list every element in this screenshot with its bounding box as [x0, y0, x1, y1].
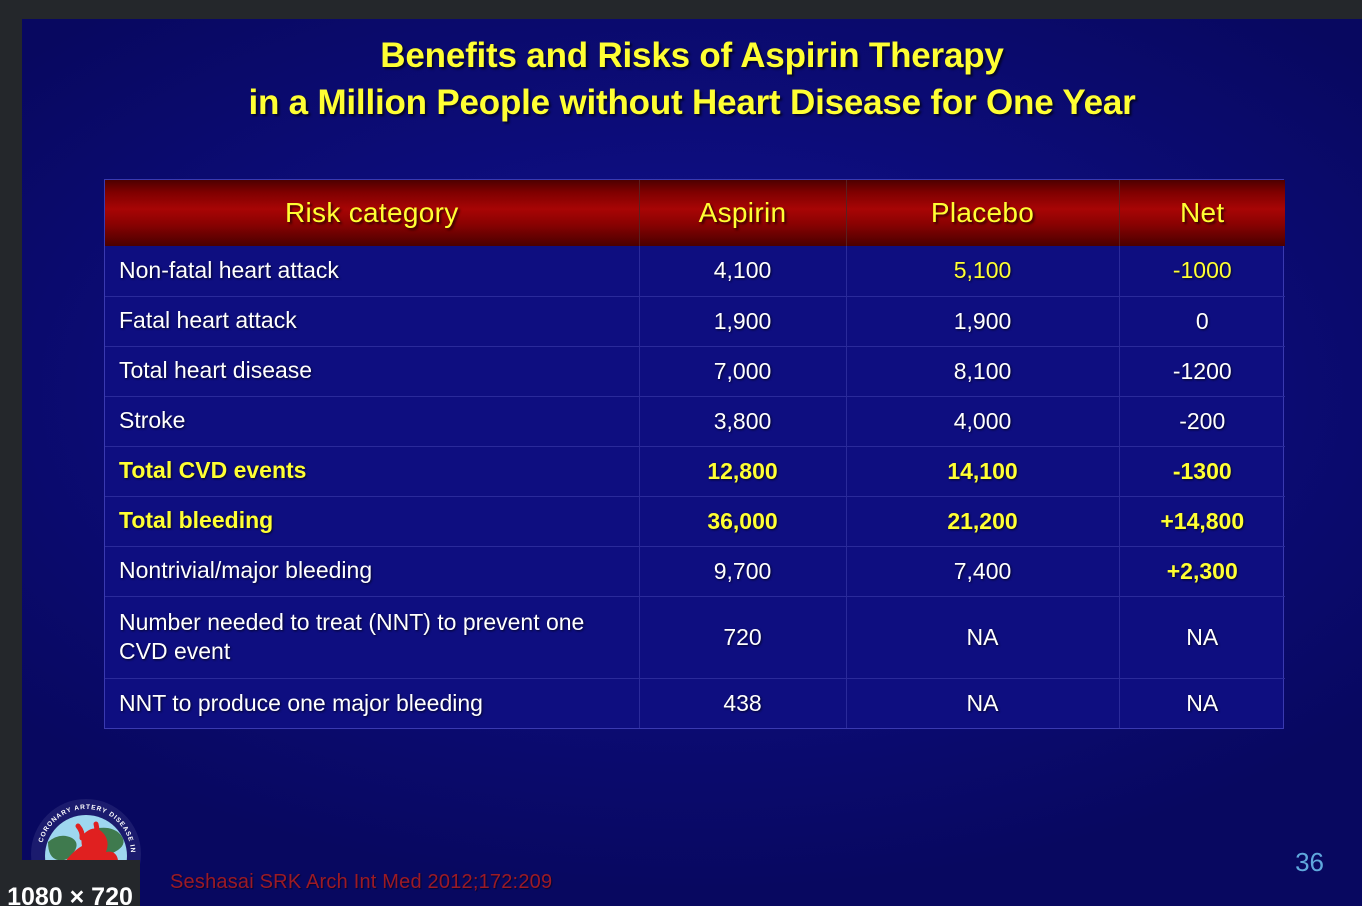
window-chrome-top	[0, 0, 1362, 19]
column-header-placebo: Placebo	[846, 180, 1119, 246]
window-chrome-left	[0, 0, 22, 906]
table-body: Non-fatal heart attack4,1005,100-1000Fat…	[105, 246, 1285, 728]
column-header-risk-category: Risk category	[105, 180, 639, 246]
row-value: 1,900	[639, 296, 846, 346]
row-value: 438	[639, 678, 846, 728]
row-value: 12,800	[639, 446, 846, 496]
row-value: -1300	[1119, 446, 1285, 496]
row-label: Stroke	[105, 396, 639, 446]
row-value: +2,300	[1119, 546, 1285, 596]
table-row: Total CVD events12,80014,100-1300	[105, 446, 1285, 496]
table-header: Risk category Aspirin Placebo Net	[105, 180, 1285, 246]
data-table: Risk category Aspirin Placebo Net Non-fa…	[105, 180, 1285, 728]
row-value: 1,900	[846, 296, 1119, 346]
table-row: Number needed to treat (NNT) to prevent …	[105, 596, 1285, 678]
row-value: 720	[639, 596, 846, 678]
row-label: Non-fatal heart attack	[105, 246, 639, 296]
row-value: 21,200	[846, 496, 1119, 546]
row-value: NA	[1119, 596, 1285, 678]
row-label: NNT to produce one major bleeding	[105, 678, 639, 728]
row-value: NA	[846, 596, 1119, 678]
row-label: Total CVD events	[105, 446, 639, 496]
row-value: -200	[1119, 396, 1285, 446]
row-label: Fatal heart attack	[105, 296, 639, 346]
row-value: +14,800	[1119, 496, 1285, 546]
row-value: 5,100	[846, 246, 1119, 296]
title-line-2: in a Million People without Heart Diseas…	[22, 80, 1362, 127]
row-value: 9,700	[639, 546, 846, 596]
column-header-aspirin: Aspirin	[639, 180, 846, 246]
dimension-badge-label: 1080 × 720	[0, 874, 140, 906]
table-row: Total bleeding36,00021,200+14,800	[105, 496, 1285, 546]
dimension-badge: 1080 × 720	[0, 860, 140, 906]
row-value: 4,000	[846, 396, 1119, 446]
table-row: Fatal heart attack1,9001,9000	[105, 296, 1285, 346]
row-value: 36,000	[639, 496, 846, 546]
row-value: 3,800	[639, 396, 846, 446]
table-row: Total heart disease7,0008,100-1200	[105, 346, 1285, 396]
row-value: 7,000	[639, 346, 846, 396]
row-value: 4,100	[639, 246, 846, 296]
table-row: NNT to produce one major bleeding438NANA	[105, 678, 1285, 728]
risk-benefit-table: Risk category Aspirin Placebo Net Non-fa…	[104, 179, 1284, 729]
title-line-1: Benefits and Risks of Aspirin Therapy	[380, 36, 1003, 75]
row-value: 0	[1119, 296, 1285, 346]
row-label: Total heart disease	[105, 346, 639, 396]
row-label: Number needed to treat (NNT) to prevent …	[105, 596, 639, 678]
row-value: 14,100	[846, 446, 1119, 496]
row-value: 8,100	[846, 346, 1119, 396]
table-row: Nontrivial/major bleeding9,7007,400+2,30…	[105, 546, 1285, 596]
page-title: Benefits and Risks of Aspirin Therapy in…	[22, 33, 1362, 127]
row-label: Total bleeding	[105, 496, 639, 546]
screen-root: Benefits and Risks of Aspirin Therapy in…	[0, 0, 1362, 906]
row-value: NA	[1119, 678, 1285, 728]
row-label: Nontrivial/major bleeding	[105, 546, 639, 596]
slide-canvas: Benefits and Risks of Aspirin Therapy in…	[22, 19, 1362, 906]
table-row: Non-fatal heart attack4,1005,100-1000	[105, 246, 1285, 296]
table-row: Stroke3,8004,000-200	[105, 396, 1285, 446]
row-value: NA	[846, 678, 1119, 728]
slide-number: 36	[1295, 847, 1324, 878]
source-citation: Seshasai SRK Arch Int Med 2012;172:209	[170, 871, 552, 894]
table-header-row: Risk category Aspirin Placebo Net	[105, 180, 1285, 246]
row-value: -1000	[1119, 246, 1285, 296]
row-value: -1200	[1119, 346, 1285, 396]
column-header-net: Net	[1119, 180, 1285, 246]
row-value: 7,400	[846, 546, 1119, 596]
